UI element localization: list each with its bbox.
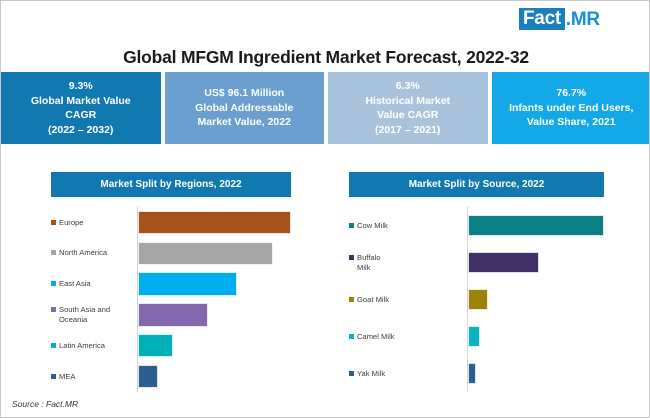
category-legend: North America bbox=[51, 248, 137, 258]
kpi-value: 76.7% bbox=[509, 86, 633, 101]
chart-row: Cow Milk bbox=[349, 207, 604, 244]
bar-track bbox=[467, 281, 604, 318]
kpi-card-4: 76.7%Infants under End Users,Value Share… bbox=[492, 72, 650, 144]
legend-swatch-icon bbox=[349, 297, 354, 302]
kpi-text-block: 9.3%Global Market ValueCAGR(2022 – 2032) bbox=[31, 79, 131, 137]
category-legend: Goat Milk bbox=[349, 295, 467, 305]
legend-swatch-icon bbox=[51, 374, 56, 379]
kpi-label-line: Market Value, 2022 bbox=[195, 115, 293, 130]
kpi-label-line: Value CAGR bbox=[365, 108, 450, 123]
category-legend: East Asia bbox=[51, 279, 137, 289]
bar-track bbox=[137, 299, 291, 330]
fact-mr-logo: Fact .MR bbox=[519, 8, 600, 30]
kpi-label-line: Value Share, 2021 bbox=[509, 115, 633, 130]
kpi-label-line: (2022 – 2032) bbox=[31, 123, 131, 138]
category-label: South Asia and Oceania bbox=[59, 305, 110, 324]
bar-track bbox=[467, 318, 604, 355]
bar bbox=[138, 211, 291, 234]
bar bbox=[468, 215, 604, 236]
category-legend: MEA bbox=[51, 372, 137, 382]
bar-track bbox=[137, 361, 291, 392]
bar-track bbox=[467, 244, 604, 281]
kpi-value: 9.3% bbox=[31, 79, 131, 94]
kpi-label-line: CAGR bbox=[31, 108, 131, 123]
legend-swatch-icon bbox=[349, 223, 354, 228]
category-label: Yak Milk bbox=[357, 369, 385, 379]
bar bbox=[468, 289, 488, 310]
bar bbox=[138, 272, 237, 295]
kpi-text-block: US$ 96.1 MillionGlobal AddressableMarket… bbox=[195, 86, 293, 130]
bar bbox=[138, 334, 173, 357]
legend-swatch-icon bbox=[51, 281, 56, 286]
kpi-text-block: 6.3%Historical MarketValue CAGR(2017 – 2… bbox=[365, 79, 450, 137]
bar bbox=[468, 363, 476, 384]
bar-chart-regions: EuropeNorth AmericaEast AsiaSouth Asia a… bbox=[51, 207, 291, 392]
chart-row: Yak Milk bbox=[349, 355, 604, 392]
kpi-value: 6.3% bbox=[365, 79, 450, 94]
bar-track bbox=[467, 355, 604, 392]
source-note: Source : Fact.MR bbox=[12, 399, 78, 409]
category-label: Goat Milk bbox=[357, 295, 389, 305]
kpi-value: US$ 96.1 Million bbox=[195, 86, 293, 101]
chart-row: North America bbox=[51, 238, 291, 269]
category-legend: Yak Milk bbox=[349, 369, 467, 379]
chart-row: East Asia bbox=[51, 269, 291, 300]
infographic-root: Fact .MR Global MFGM Ingredient Market F… bbox=[0, 0, 650, 418]
legend-swatch-icon bbox=[51, 343, 56, 348]
chart-row: South Asia and Oceania bbox=[51, 299, 291, 330]
category-label: Cow Milk bbox=[357, 221, 388, 231]
chart-row: Camel Milk bbox=[349, 318, 604, 355]
chart-row: Europe bbox=[51, 207, 291, 238]
legend-swatch-icon bbox=[349, 371, 354, 376]
category-legend: South Asia and Oceania bbox=[51, 305, 137, 324]
category-legend: Buffalo Milk bbox=[349, 253, 467, 272]
category-label: Camel Milk bbox=[357, 332, 395, 342]
chart-row: Latin America bbox=[51, 330, 291, 361]
category-label: East Asia bbox=[59, 279, 91, 289]
bar bbox=[468, 252, 539, 273]
legend-swatch-icon bbox=[51, 250, 56, 255]
bar bbox=[138, 303, 208, 326]
legend-swatch-icon bbox=[51, 307, 56, 312]
chart-row: MEA bbox=[51, 361, 291, 392]
category-legend: Cow Milk bbox=[349, 221, 467, 231]
category-legend: Camel Milk bbox=[349, 332, 467, 342]
kpi-label-line: Historical Market bbox=[365, 94, 450, 109]
bar bbox=[138, 365, 158, 388]
kpi-strip: 9.3%Global Market ValueCAGR(2022 – 2032)… bbox=[1, 72, 650, 144]
chart-row: Goat Milk bbox=[349, 281, 604, 318]
kpi-label-line: Global Market Value bbox=[31, 94, 131, 109]
bar-chart-source: Cow MilkBuffalo MilkGoat MilkCamel MilkY… bbox=[349, 207, 604, 392]
kpi-card-3: 6.3%Historical MarketValue CAGR(2017 – 2… bbox=[328, 72, 488, 144]
chart-title-source: Market Split by Source, 2022 bbox=[349, 172, 604, 197]
chart-row: Buffalo Milk bbox=[349, 244, 604, 281]
bar-track bbox=[467, 207, 604, 244]
category-label: North America bbox=[59, 248, 107, 258]
logo-mark-text: Fact bbox=[519, 8, 565, 30]
bar-track bbox=[137, 330, 291, 361]
kpi-card-1: 9.3%Global Market ValueCAGR(2022 – 2032) bbox=[1, 72, 161, 144]
legend-swatch-icon bbox=[51, 220, 56, 225]
kpi-card-2: US$ 96.1 MillionGlobal AddressableMarket… bbox=[165, 72, 325, 144]
kpi-label-line: (2017 – 2021) bbox=[365, 123, 450, 138]
kpi-label-line: Infants under End Users, bbox=[509, 101, 633, 116]
logo-suffix-text: .MR bbox=[565, 10, 600, 29]
category-label: Europe bbox=[59, 218, 84, 228]
kpi-label-line: Global Addressable bbox=[195, 101, 293, 116]
bar-track bbox=[137, 207, 291, 238]
chart-title-regions: Market Split by Regions, 2022 bbox=[51, 172, 291, 197]
category-label: MEA bbox=[59, 372, 75, 382]
bar-track bbox=[137, 238, 291, 269]
chart-panel-source: Market Split by Source, 2022 Cow MilkBuf… bbox=[349, 172, 604, 392]
bar bbox=[468, 326, 480, 347]
chart-panel-regions: Market Split by Regions, 2022 EuropeNort… bbox=[51, 172, 291, 392]
legend-swatch-icon bbox=[349, 334, 354, 339]
page-title: Global MFGM Ingredient Market Forecast, … bbox=[1, 47, 650, 68]
category-legend: Europe bbox=[51, 218, 137, 228]
bar bbox=[138, 242, 273, 265]
category-label: Latin America bbox=[59, 341, 105, 351]
kpi-text-block: 76.7%Infants under End Users,Value Share… bbox=[509, 86, 633, 130]
legend-swatch-icon bbox=[349, 255, 354, 260]
category-legend: Latin America bbox=[51, 341, 137, 351]
bar-track bbox=[137, 269, 291, 300]
category-label: Buffalo Milk bbox=[357, 253, 381, 272]
